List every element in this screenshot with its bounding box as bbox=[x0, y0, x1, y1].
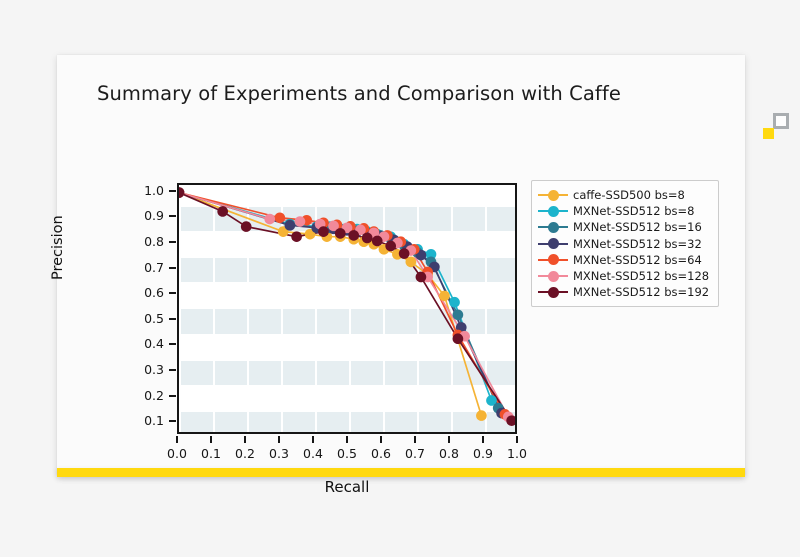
square-logo bbox=[763, 113, 789, 139]
legend-swatch bbox=[538, 204, 568, 218]
x-tick-mark bbox=[346, 436, 348, 443]
series-layer bbox=[179, 185, 515, 432]
slide: Summary of Experiments and Comparison wi… bbox=[57, 55, 745, 475]
page-title: Summary of Experiments and Comparison wi… bbox=[97, 82, 621, 105]
series-marker bbox=[179, 187, 184, 198]
series-marker bbox=[416, 272, 427, 283]
series-marker bbox=[476, 410, 487, 421]
y-tick-label: 0.9 bbox=[130, 208, 164, 223]
x-tick-mark bbox=[448, 436, 450, 443]
series-marker bbox=[295, 216, 306, 227]
series-marker bbox=[291, 231, 302, 242]
plot-area bbox=[177, 183, 517, 434]
x-tick-label: 0.4 bbox=[297, 446, 329, 461]
y-tick-label: 0.7 bbox=[130, 260, 164, 275]
series-marker bbox=[285, 220, 296, 231]
y-tick-label: 0.5 bbox=[130, 311, 164, 326]
series-marker bbox=[362, 233, 373, 244]
chart-legend: caffe-SSD500 bs=8MXNet-SSD512 bs=8MXNet-… bbox=[531, 180, 719, 307]
x-tick-label: 0.5 bbox=[331, 446, 363, 461]
y-tick-mark bbox=[169, 343, 176, 345]
legend-label: MXNet-SSD512 bs=192 bbox=[573, 285, 709, 299]
x-tick-label: 0.7 bbox=[399, 446, 431, 461]
legend-item[interactable]: MXNet-SSD512 bs=64 bbox=[538, 252, 709, 268]
x-tick-label: 0.6 bbox=[365, 446, 397, 461]
y-tick-label: 0.6 bbox=[130, 285, 164, 300]
series-marker bbox=[372, 236, 383, 247]
series-marker bbox=[399, 248, 410, 259]
y-tick-label: 0.2 bbox=[130, 388, 164, 403]
legend-item[interactable]: MXNet-SSD512 bs=32 bbox=[538, 236, 709, 252]
legend-marker-icon bbox=[548, 206, 559, 217]
legend-label: MXNet-SSD512 bs=64 bbox=[573, 253, 702, 267]
x-tick-mark bbox=[210, 436, 212, 443]
legend-swatch bbox=[538, 237, 568, 251]
x-tick-mark bbox=[244, 436, 246, 443]
series-marker bbox=[453, 309, 464, 320]
legend-swatch bbox=[538, 269, 568, 283]
x-tick-label: 0.0 bbox=[161, 446, 193, 461]
series-marker bbox=[348, 230, 359, 241]
legend-label: caffe-SSD500 bs=8 bbox=[573, 188, 685, 202]
series-marker bbox=[453, 333, 464, 344]
legend-swatch bbox=[538, 188, 568, 202]
legend-item[interactable]: caffe-SSD500 bs=8 bbox=[538, 187, 709, 203]
series-marker bbox=[449, 297, 460, 308]
y-tick-mark bbox=[169, 292, 176, 294]
legend-swatch bbox=[538, 253, 568, 267]
series-marker bbox=[406, 257, 417, 268]
y-tick-label: 1.0 bbox=[130, 183, 164, 198]
y-tick-label: 0.8 bbox=[130, 234, 164, 249]
series-marker bbox=[439, 291, 450, 302]
legend-label: MXNet-SSD512 bs=128 bbox=[573, 269, 709, 283]
series-marker bbox=[385, 241, 396, 252]
series-marker bbox=[241, 221, 252, 232]
x-axis-label: Recall bbox=[177, 478, 517, 496]
series-marker bbox=[318, 226, 329, 237]
y-tick-mark bbox=[169, 420, 176, 422]
y-tick-label: 0.3 bbox=[130, 362, 164, 377]
legend-item[interactable]: MXNet-SSD512 bs=128 bbox=[538, 268, 709, 284]
legend-marker-icon bbox=[548, 287, 559, 298]
y-tick-mark bbox=[169, 267, 176, 269]
x-tick-mark bbox=[278, 436, 280, 443]
y-tick-mark bbox=[169, 215, 176, 217]
y-tick-label: 0.1 bbox=[130, 413, 164, 428]
precision-recall-chart: Precision Recall 0.10.20.30.40.50.60.70.… bbox=[57, 110, 745, 470]
x-tick-mark bbox=[312, 436, 314, 443]
legend-item[interactable]: MXNet-SSD512 bs=192 bbox=[538, 284, 709, 300]
x-tick-label: 0.9 bbox=[467, 446, 499, 461]
y-tick-mark bbox=[169, 395, 176, 397]
presentation-canvas: Summary of Experiments and Comparison wi… bbox=[0, 0, 800, 557]
y-tick-mark bbox=[169, 190, 176, 192]
x-tick-mark bbox=[516, 436, 518, 443]
y-tick-mark bbox=[169, 369, 176, 371]
legend-marker-icon bbox=[548, 190, 559, 201]
series-marker bbox=[264, 214, 275, 225]
logo-outer-square bbox=[773, 113, 789, 129]
x-tick-mark bbox=[482, 436, 484, 443]
x-tick-mark bbox=[414, 436, 416, 443]
y-axis-label: Precision bbox=[50, 215, 66, 280]
legend-marker-icon bbox=[548, 271, 559, 282]
x-tick-mark bbox=[176, 436, 178, 443]
x-tick-mark bbox=[380, 436, 382, 443]
y-tick-label: 0.4 bbox=[130, 336, 164, 351]
x-tick-label: 0.8 bbox=[433, 446, 465, 461]
legend-label: MXNet-SSD512 bs=16 bbox=[573, 220, 702, 234]
legend-marker-icon bbox=[548, 238, 559, 249]
legend-swatch bbox=[538, 285, 568, 299]
series-marker bbox=[217, 206, 228, 217]
legend-item[interactable]: MXNet-SSD512 bs=8 bbox=[538, 203, 709, 219]
legend-marker-icon bbox=[548, 222, 559, 233]
legend-marker-icon bbox=[548, 254, 559, 265]
legend-item[interactable]: MXNet-SSD512 bs=16 bbox=[538, 219, 709, 235]
legend-label: MXNet-SSD512 bs=32 bbox=[573, 237, 702, 251]
x-tick-label: 0.1 bbox=[195, 446, 227, 461]
x-tick-label: 0.3 bbox=[263, 446, 295, 461]
series-marker bbox=[335, 228, 346, 239]
legend-swatch bbox=[538, 220, 568, 234]
x-tick-label: 0.2 bbox=[229, 446, 261, 461]
slide-accent-bar bbox=[57, 468, 745, 477]
x-tick-label: 1.0 bbox=[501, 446, 533, 461]
logo-inner-square bbox=[763, 128, 774, 139]
series-marker bbox=[274, 212, 285, 223]
y-tick-mark bbox=[169, 318, 176, 320]
y-tick-mark bbox=[169, 241, 176, 243]
legend-label: MXNet-SSD512 bs=8 bbox=[573, 204, 694, 218]
